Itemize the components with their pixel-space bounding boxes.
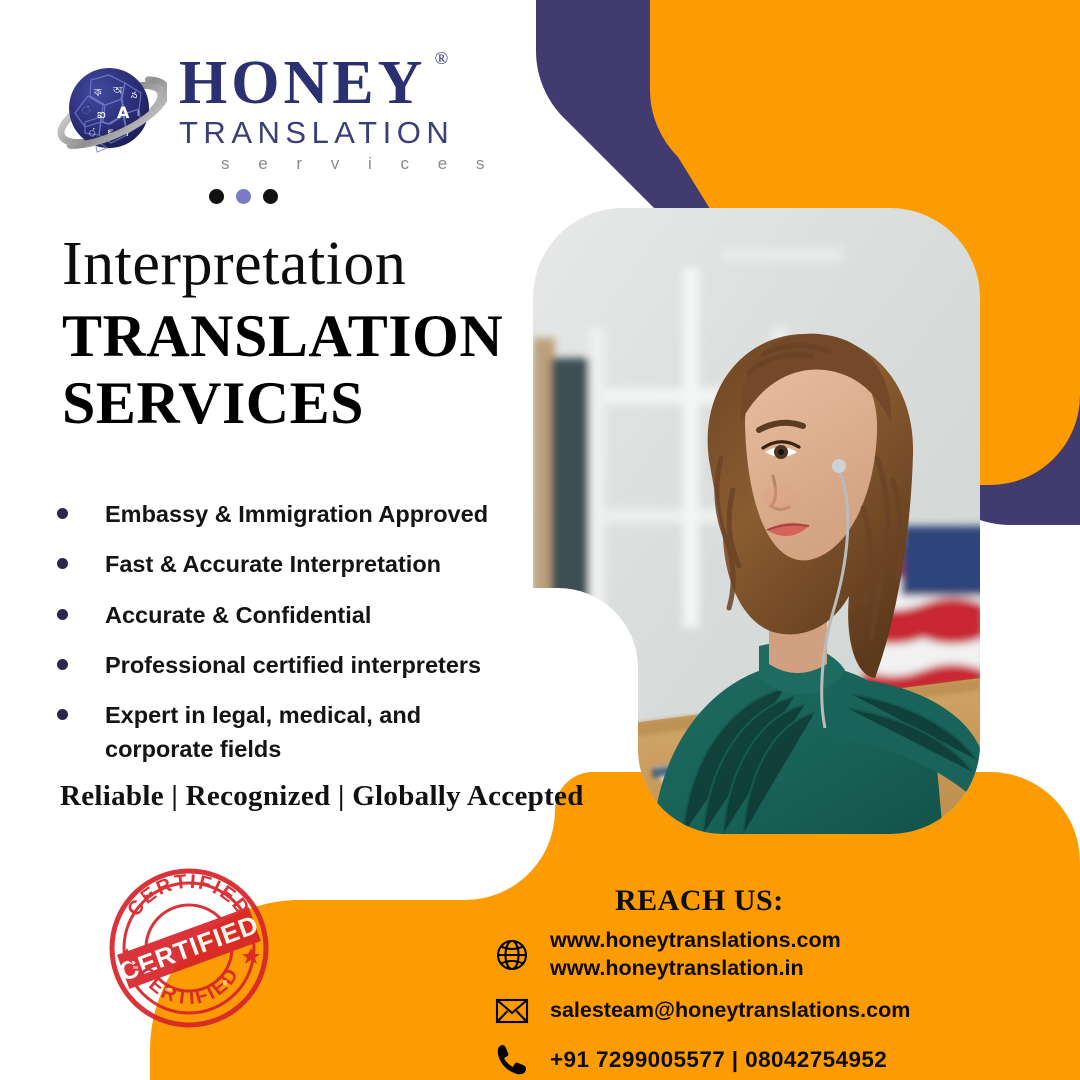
logo-brand-name: HONEY® [179,54,426,113]
phone-icon [492,1040,532,1080]
headline-bold: TRANSLATION SERVICES [62,303,503,437]
poster-canvas: ক অ న ં ఐ A । ் ్ । HONEY® TRANSLATION [0,0,1080,1080]
contact-email-line[interactable]: salesteam@honeytranslations.com [550,997,910,1025]
logo-wordmark: HONEY® TRANSLATION s e r v i c e s [179,48,496,174]
svg-text:।: । [136,109,139,119]
list-item-label: Fast & Accurate Interpretation [105,548,441,581]
bullet-dot-icon [57,558,68,569]
svg-text:்: ் [88,126,98,139]
bullet-dot-icon [57,609,68,620]
contact-website-lines[interactable]: www.honeytranslations.com www.honeytrans… [550,927,841,982]
bullet-dot-icon [57,709,68,720]
logo-brand-text: HONEY [179,49,426,117]
list-item: Embassy & Immigration Approved [57,498,527,531]
dot-2 [236,189,251,204]
contact-rows: www.honeytranslations.com www.honeytrans… [492,927,1072,1080]
contact-phone-line[interactable]: +91 7299005577 | 08042754952 [550,1046,887,1075]
logo-line-services: s e r v i c e s [179,154,496,174]
list-item: Accurate & Confidential [57,599,527,632]
svg-text:CERTIFIED: CERTIFIED [123,871,255,921]
website-line-2[interactable]: www.honeytranslation.in [550,955,841,983]
dot-separator [209,189,278,204]
globe-languages-icon: ক অ న ં ఐ A । ் ్ । [55,56,167,168]
list-item-label: Embassy & Immigration Approved [105,498,488,531]
website-line-1[interactable]: www.honeytranslations.com [550,927,841,955]
svg-text:ক: ক [93,86,102,99]
certified-stamp-icon: CERTIFIED CERTIFIED CERTIFIED [103,862,275,1034]
contact-row-website: www.honeytranslations.com www.honeytrans… [492,927,1072,982]
tagline: Reliable | Recognized | Globally Accepte… [60,780,584,813]
contact-row-email: salesteam@honeytranslations.com [492,991,1072,1031]
brand-logo: ক অ న ં ఐ A । ் ్ । HONEY® TRANSLATION [55,48,496,174]
envelope-icon [492,991,532,1031]
svg-text:ં: ં [82,105,90,117]
list-item: Expert in legal, medical, and corporate … [57,699,527,766]
globe-icon [492,935,532,975]
bullet-dot-icon [57,659,68,670]
dot-1 [209,189,224,204]
list-item: Professional certified interpreters [57,649,527,682]
hero-photo-clip [533,208,980,834]
list-item-label: Professional certified interpreters [105,649,481,682]
bullet-dot-icon [57,508,68,519]
svg-text:অ: অ [112,84,123,97]
svg-text:A: A [117,103,130,122]
headline-bold-line2: SERVICES [62,370,503,437]
dot-3 [263,189,278,204]
list-item: Fast & Accurate Interpretation [57,548,527,581]
svg-text:ఐ: ఐ [97,107,106,121]
registered-mark: ® [435,50,449,67]
list-item-label: Expert in legal, medical, and corporate … [105,699,505,766]
contact-panel: REACH US: www.honeytranslations.com www.… [440,872,1080,1080]
list-item-label: Accurate & Confidential [105,599,371,632]
headline-block: Interpretation TRANSLATION SERVICES [62,232,503,437]
hero-photo [533,208,980,834]
headline-script: Interpretation [62,232,503,297]
svg-text:న: న [131,91,137,101]
headline-bold-line1: TRANSLATION [62,303,503,370]
feature-list: Embassy & Immigration Approved Fast & Ac… [57,498,527,783]
contact-panel-title: REACH US: [615,884,784,918]
svg-text:CERTIFIED: CERTIFIED [134,963,244,1009]
contact-row-phone: +91 7299005577 | 08042754952 [492,1040,1072,1080]
logo-line-translation: TRANSLATION [179,117,496,150]
